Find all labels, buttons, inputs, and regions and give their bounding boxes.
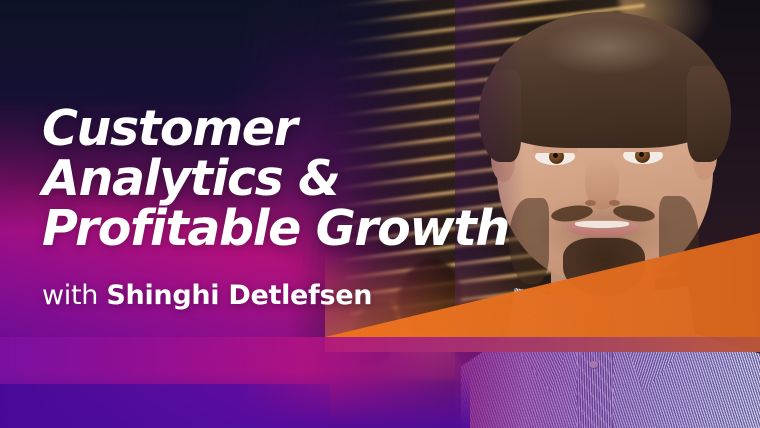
banner-title: Customer Analytics & Profitable Growth bbox=[42, 104, 562, 254]
banner-copy: Customer Analytics & Profitable Growth w… bbox=[42, 104, 562, 311]
bottom-violet-block bbox=[0, 384, 330, 428]
speaker-name: Shinghi Detlefsen bbox=[106, 280, 372, 311]
subtitle-prefix: with bbox=[42, 280, 98, 311]
banner-subtitle: with Shinghi Detlefsen bbox=[42, 281, 562, 311]
webinar-banner: Customer Analytics & Profitable Growth w… bbox=[0, 0, 760, 428]
